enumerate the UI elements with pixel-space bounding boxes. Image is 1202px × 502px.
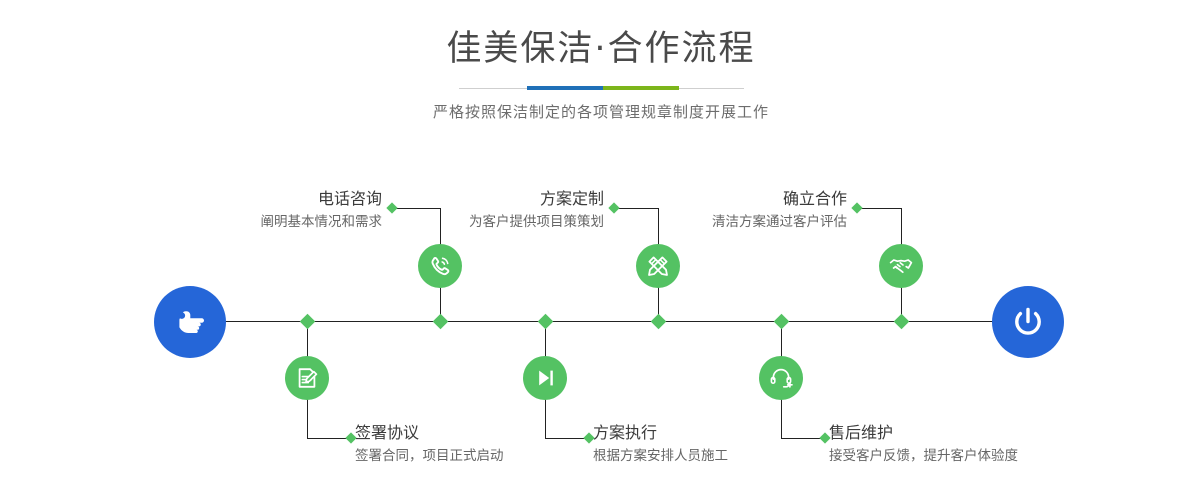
step-4-node[interactable] — [523, 356, 567, 400]
phone-call-icon — [427, 253, 453, 279]
step-3-node[interactable] — [636, 244, 680, 288]
step-2-node[interactable] — [285, 356, 329, 400]
step-2-label: 签署协议 签署合同，项目正式启动 — [355, 422, 615, 466]
step-4-desc: 根据方案安排人员施工 — [593, 446, 853, 466]
step-3-desc: 为客户提供项目策策划 — [372, 212, 604, 232]
divider-segment-blue — [527, 86, 603, 90]
step-6-label: 售后维护 接受客户反馈，提升客户体验度 — [829, 422, 1119, 466]
step-3-label: 方案定制 为客户提供项目策策划 — [372, 188, 604, 232]
step-5-node[interactable] — [879, 244, 923, 288]
step-3-axis-marker — [650, 313, 666, 329]
step-1-desc: 阐明基本情况和需求 — [150, 212, 382, 232]
timeline: 电话咨询 阐明基本情况和需求 签署协议 签署合同，项目正式启动 — [0, 160, 1202, 490]
document-edit-icon — [294, 365, 320, 391]
play-skip-icon — [532, 365, 558, 391]
customer-service-add-icon — [768, 365, 794, 391]
step-5-axis-marker — [893, 313, 909, 329]
step-1-title: 电话咨询 — [150, 188, 382, 210]
page-subtitle: 严格按照保洁制定的各项管理规章制度开展工作 — [0, 101, 1202, 122]
step-4-label: 方案执行 根据方案安排人员施工 — [593, 422, 853, 466]
step-4-title: 方案执行 — [593, 422, 853, 444]
step-3-title: 方案定制 — [372, 188, 604, 210]
step-5-desc: 清洁方案通过客户评估 — [615, 212, 847, 232]
start-endcap[interactable] — [154, 286, 226, 358]
step-2-title: 签署协议 — [355, 422, 615, 444]
header: 佳美保洁·合作流程 严格按照保洁制定的各项管理规章制度开展工作 — [0, 26, 1202, 122]
step-6-node[interactable] — [759, 356, 803, 400]
step-5-connector-horizontal — [857, 208, 901, 209]
timeline-axis — [160, 321, 1042, 322]
step-6-desc: 接受客户反馈，提升客户体验度 — [829, 446, 1119, 466]
title-divider — [459, 86, 744, 90]
divider-segment-green — [603, 86, 679, 90]
process-flow-infographic: 佳美保洁·合作流程 严格按照保洁制定的各项管理规章制度开展工作 — [0, 0, 1202, 502]
step-6-axis-marker — [773, 313, 789, 329]
step-5-label: 确立合作 清洁方案通过客户评估 — [615, 188, 847, 232]
step-2-axis-marker — [299, 313, 315, 329]
end-endcap[interactable] — [992, 286, 1064, 358]
pointing-hand-icon — [170, 302, 210, 342]
step-5-lead-dot — [851, 202, 862, 213]
pencil-ruler-icon — [645, 253, 671, 279]
step-5-title: 确立合作 — [615, 188, 847, 210]
step-6-title: 售后维护 — [829, 422, 1119, 444]
step-1-node[interactable] — [418, 244, 462, 288]
step-2-desc: 签署合同，项目正式启动 — [355, 446, 615, 466]
step-1-label: 电话咨询 阐明基本情况和需求 — [150, 188, 382, 232]
page-title: 佳美保洁·合作流程 — [0, 26, 1202, 72]
step-4-axis-marker — [537, 313, 553, 329]
step-1-axis-marker — [432, 313, 448, 329]
handshake-icon — [888, 253, 914, 279]
power-icon — [1007, 301, 1049, 343]
step-2-connector-horizontal — [307, 438, 351, 439]
